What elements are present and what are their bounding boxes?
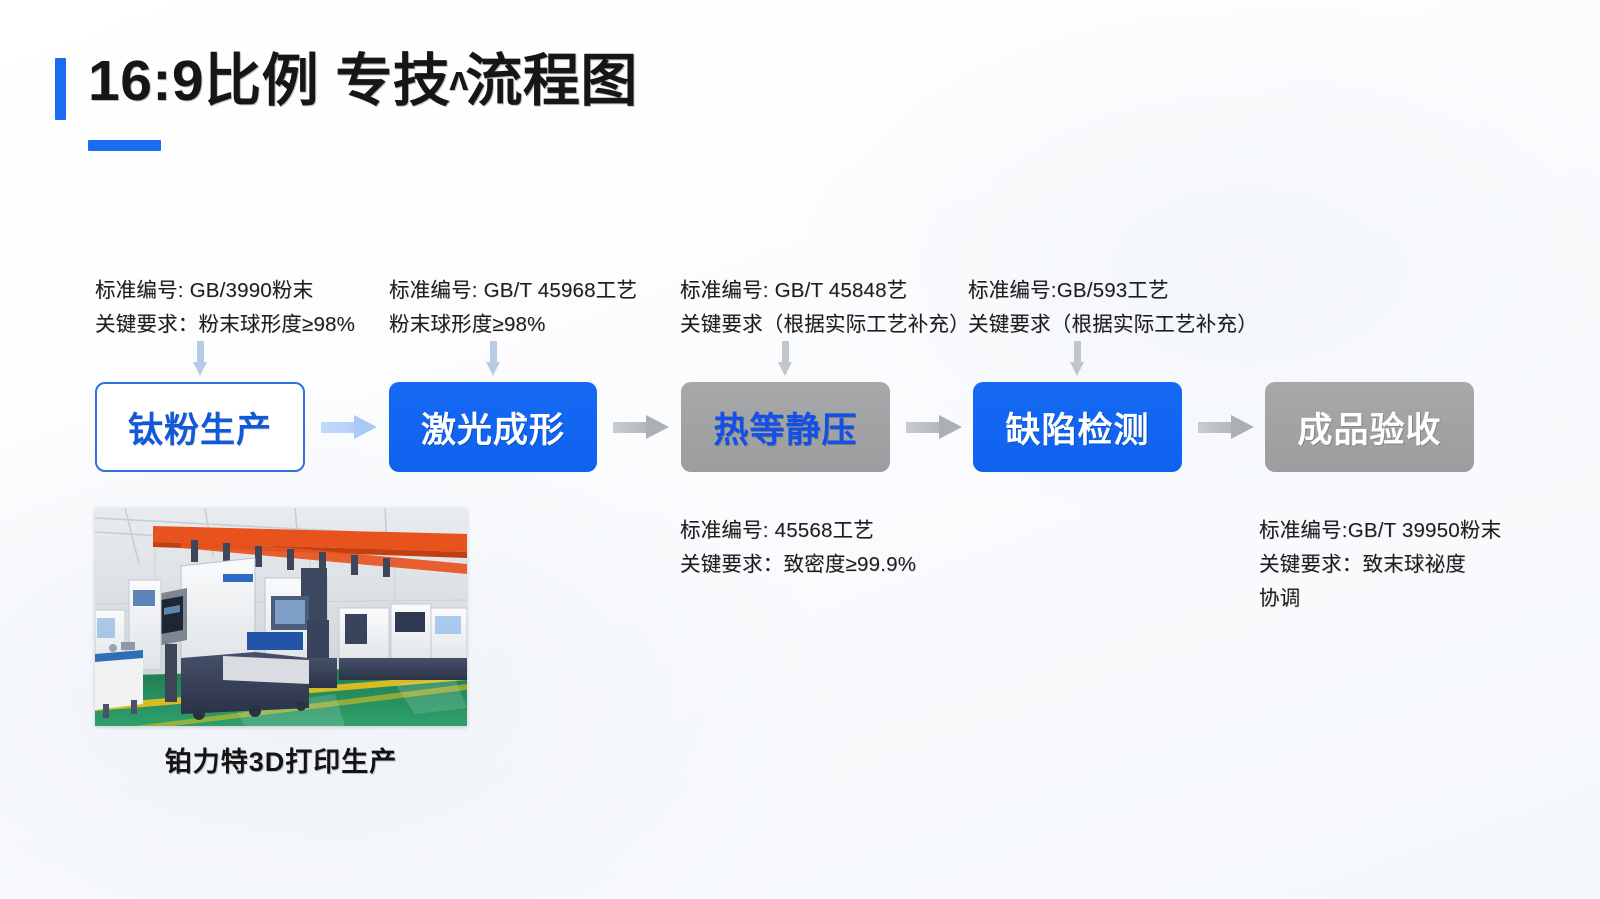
annotation-standard-code: 标准编号: 45568工艺	[680, 514, 916, 548]
annotation-standard-code: 标准编号: GB/3990粉末	[95, 274, 355, 308]
annotation-step-4: 标准编号:GB/593工艺 关键要求（根据实际工艺补充）	[968, 274, 1258, 342]
slide-canvas: 16:9比例 专技ʌ流程图 标准编号: GB/3990粉末 关键要求：粉末球形度…	[0, 0, 1600, 899]
title-accent-bar	[55, 58, 66, 120]
annotation-step-2: 标准编号: GB/T 45968工艺 粉末球形度≥98%	[389, 274, 637, 342]
arrow-stem	[782, 341, 789, 363]
flow-arrow-2	[613, 415, 669, 439]
connector-down-arrow-2	[486, 341, 501, 377]
flow-arrow-4	[1198, 415, 1254, 439]
arrow-stem	[321, 422, 357, 433]
annotation-step-3-bottom: 标准编号: 45568工艺 关键要求：致密度≥99.9%	[680, 514, 916, 582]
title-text: 16:9比例 专技ʌ流程图	[88, 52, 638, 112]
annotation-step-5-bottom: 标准编号:GB/T 39950粉末 关键要求：致末球祕度 协调	[1259, 514, 1501, 616]
arrow-head	[354, 415, 377, 439]
connector-down-arrow-3	[778, 341, 793, 377]
annotation-step-3: 标准编号: GB/T 45848艺 关键要求（根据实际工艺补充）	[680, 274, 970, 342]
title-broken-glyph: ʌ	[449, 60, 466, 98]
annotation-key-requirement: 粉末球形度≥98%	[389, 308, 637, 342]
connector-down-arrow-1	[193, 341, 208, 377]
arrow-stem	[906, 422, 942, 433]
arrow-head	[646, 415, 669, 439]
arrow-head	[486, 362, 500, 376]
factory-photo	[95, 508, 467, 726]
arrow-stem	[1074, 341, 1081, 363]
flow-arrow-3	[906, 415, 962, 439]
title-main-text: 16:9比例 专技	[88, 49, 450, 113]
annotation-key-requirement: 关键要求：致密度≥99.9%	[680, 548, 916, 582]
annotation-key-requirement: 关键要求：致末球祕度	[1259, 548, 1501, 582]
connector-down-arrow-4	[1070, 341, 1085, 377]
annotation-key-requirement: 关键要求：粉末球形度≥98%	[95, 308, 355, 342]
process-step-label: 激光成形	[421, 402, 565, 453]
arrow-stem	[1198, 422, 1234, 433]
process-step-label: 钛粉生产	[128, 402, 272, 453]
factory-photo-illustration	[95, 508, 467, 726]
photo-caption: 铂力特3D打印生产	[95, 740, 467, 779]
annotation-key-requirement: 关键要求（根据实际工艺补充）	[968, 308, 1258, 342]
flow-arrow-1	[321, 415, 377, 439]
arrow-stem	[613, 422, 649, 433]
page-title: 16:9比例 专技ʌ流程图	[55, 52, 638, 120]
process-step-final-acceptance[interactable]: 成品验收	[1265, 382, 1474, 472]
arrow-stem	[490, 341, 497, 363]
arrow-head	[1231, 415, 1254, 439]
annotation-key-requirement-cont: 协调	[1259, 582, 1501, 616]
annotation-key-requirement: 关键要求（根据实际工艺补充）	[680, 308, 970, 342]
arrow-head	[939, 415, 962, 439]
process-step-laser-forming[interactable]: 激光成形	[389, 382, 597, 472]
annotation-standard-code: 标准编号: GB/T 45968工艺	[389, 274, 637, 308]
arrow-head	[193, 362, 207, 376]
arrow-head	[1070, 362, 1084, 376]
arrow-head	[778, 362, 792, 376]
annotation-standard-code: 标准编号:GB/593工艺	[968, 274, 1258, 308]
process-step-titanium-powder[interactable]: 钛粉生产	[95, 382, 305, 472]
annotation-standard-code: 标准编号:GB/T 39950粉末	[1259, 514, 1501, 548]
arrow-stem	[197, 341, 204, 363]
process-step-label: 热等静压	[713, 402, 857, 453]
process-step-label: 缺陷检测	[1005, 402, 1149, 453]
annotation-standard-code: 标准编号: GB/T 45848艺	[680, 274, 970, 308]
title-underline	[88, 140, 161, 151]
annotation-step-1: 标准编号: GB/3990粉末 关键要求：粉末球形度≥98%	[95, 274, 355, 342]
title-tail-text: 流程图	[465, 49, 638, 113]
process-step-defect-inspection[interactable]: 缺陷检测	[973, 382, 1182, 472]
process-step-hot-isostatic-pressing[interactable]: 热等静压	[681, 382, 890, 472]
process-step-label: 成品验收	[1297, 402, 1441, 453]
